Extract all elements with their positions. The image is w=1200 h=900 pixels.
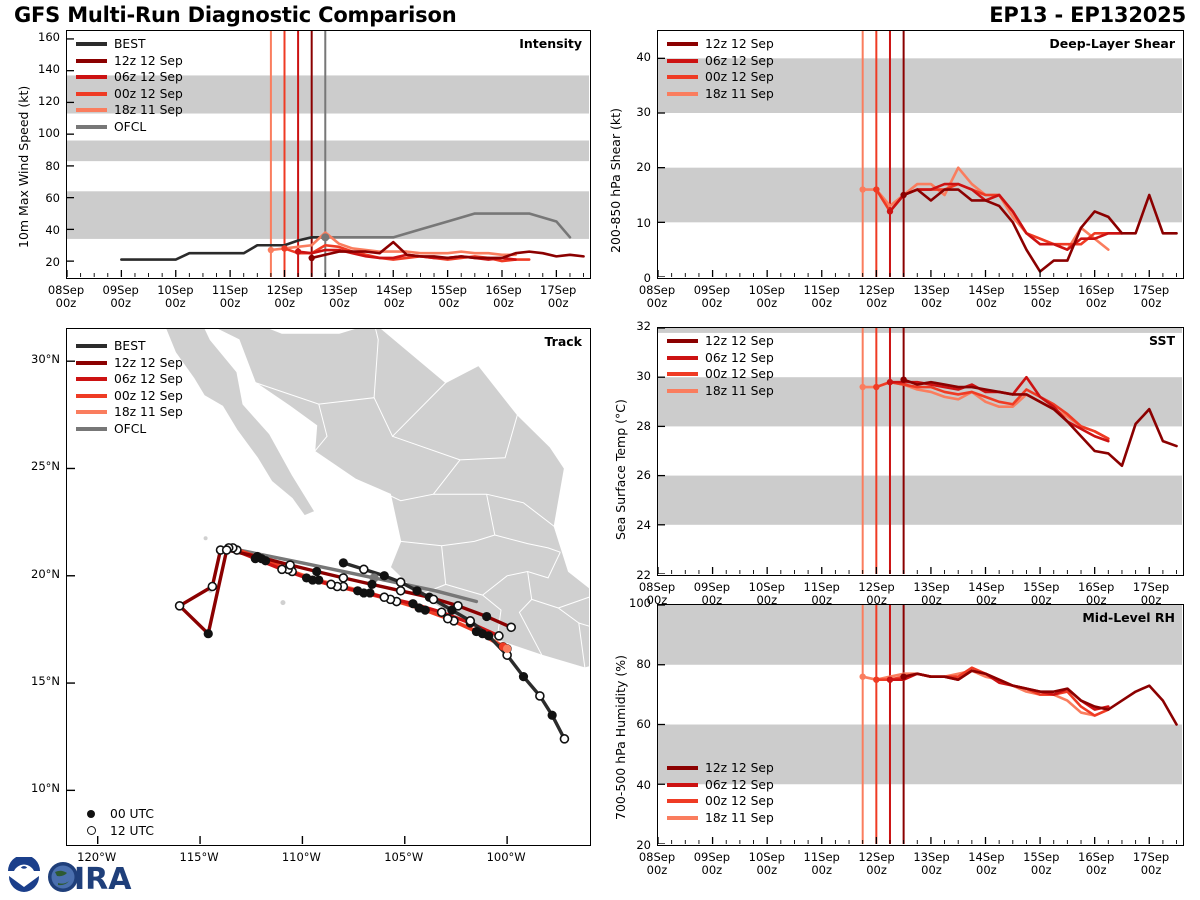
legend-swatch — [667, 389, 698, 393]
legend-item-best: BEST — [76, 36, 183, 53]
x-tick-label: 11Sep 00z — [792, 284, 852, 310]
legend-item-00z-12-sep: 00z 12 Sep — [667, 793, 774, 810]
legend-item-00z-12-sep: 00z 12 Sep — [667, 366, 774, 383]
legend-swatch — [667, 92, 698, 96]
marker-legend-label: 00 UTC — [110, 807, 154, 821]
noaa-logo-icon — [4, 857, 44, 897]
legend-swatch — [667, 339, 698, 343]
legend-swatch — [76, 92, 107, 96]
cira-logo-icon: IRA — [44, 856, 162, 898]
legend-swatch — [76, 410, 107, 414]
legend-label: 00z 12 Sep — [705, 70, 774, 84]
x-tick-label: 09Sep 00z — [91, 284, 151, 310]
series-start-marker — [268, 247, 274, 253]
x-tick-label: 17Sep 00z — [1121, 284, 1181, 310]
legend-item-18z-11-sep: 18z 11 Sep — [667, 383, 774, 400]
legend-item-12z-12-sep: 12z 12 Sep — [667, 760, 774, 777]
legend-label: 06z 12 Sep — [705, 351, 774, 365]
filled-circle-icon — [80, 807, 102, 821]
y-tick-label: 30°N — [14, 352, 60, 366]
track-marker-00utc — [447, 606, 456, 615]
track-marker-00utc — [412, 586, 421, 595]
y-tick-label: 100 — [611, 596, 651, 610]
legend-swatch — [76, 344, 107, 348]
y-tick-label: 40 — [611, 50, 651, 64]
track-marker-00utc — [519, 672, 528, 681]
series-start-marker — [873, 186, 879, 192]
track-marker-00utc — [408, 599, 417, 608]
island — [280, 600, 285, 605]
y-tick-label: 15°N — [14, 674, 60, 688]
x-tick-label: 11Sep 00z — [200, 284, 260, 310]
track-marker-12utc — [438, 608, 446, 616]
x-tick-label: 100°W — [471, 851, 541, 864]
legend-item-12z-12-sep: 12z 12 Sep — [76, 355, 183, 372]
legend-label: 18z 11 Sep — [114, 405, 183, 419]
series-start-marker — [859, 186, 865, 192]
x-tick-label: 09Sep 00z — [682, 851, 742, 877]
legend-swatch — [667, 766, 698, 770]
legend-item-18z-11-sep: 18z 11 Sep — [76, 404, 183, 421]
y-tick-label: 80 — [611, 657, 651, 671]
legend-item-ofcl: OFCL — [76, 119, 183, 136]
open-circle-icon — [80, 824, 102, 838]
series-start-marker — [887, 676, 893, 682]
x-tick-label: 115°W — [164, 851, 234, 864]
x-tick-label: 14Sep 00z — [956, 284, 1016, 310]
x-tick-label: 16Sep 00z — [1066, 851, 1126, 877]
rh-ylabel: 700-500 hPa Humidity (%) — [613, 655, 628, 820]
legend-label: 00z 12 Sep — [705, 367, 774, 381]
legend-label: 12z 12 Sep — [705, 334, 774, 348]
legend-swatch — [667, 799, 698, 803]
track-marker-12utc — [339, 574, 347, 582]
shaded-band — [67, 141, 589, 162]
legend-item-00z-12-sep: 00z 12 Sep — [667, 69, 774, 86]
track-marker-00utc — [472, 627, 481, 636]
x-tick-label: 13Sep 00z — [901, 284, 961, 310]
legend-item-ofcl: OFCL — [76, 421, 183, 438]
series-line-12z-12-sep — [312, 242, 584, 258]
series-start-marker — [281, 245, 287, 251]
y-tick-label: 80 — [20, 159, 60, 173]
series-start-marker — [295, 248, 301, 254]
legend-item-06z-12-sep: 06z 12 Sep — [667, 777, 774, 794]
series-start-marker — [900, 674, 906, 680]
island — [204, 536, 208, 540]
legend-item-06z-12-sep: 06z 12 Sep — [76, 371, 183, 388]
track-marker-12utc — [327, 580, 335, 588]
legend-label: 00z 12 Sep — [114, 389, 183, 403]
series-line-06z-12-sep — [890, 671, 1108, 710]
intensity-panel-title: Intensity — [519, 36, 582, 51]
track-marker-12utc — [536, 692, 544, 700]
marker-legend-label: 12 UTC — [110, 824, 154, 838]
legend-item-18z-11-sep: 18z 11 Sep — [76, 102, 183, 119]
track-marker-12utc — [360, 565, 368, 573]
series-start-marker — [900, 192, 906, 198]
legend-label: 06z 12 Sep — [114, 70, 183, 84]
shear-ylabel: 200-850 hPa Shear (kt) — [608, 108, 623, 253]
y-tick-label: 60 — [20, 191, 60, 205]
track-marker-12utc — [466, 617, 474, 625]
rh-legend: 12z 12 Sep06z 12 Sep00z 12 Sep18z 11 Sep — [667, 760, 774, 826]
legend-label: 06z 12 Sep — [705, 778, 774, 792]
legend-swatch — [76, 59, 107, 63]
y-tick-label: 28 — [611, 419, 651, 433]
track-marker-00utc — [253, 552, 262, 561]
page-title: GFS Multi-Run Diagnostic Comparison — [14, 3, 456, 27]
legend-swatch — [76, 394, 107, 398]
x-tick-label: 15Sep 00z — [419, 284, 479, 310]
sst-legend: 12z 12 Sep06z 12 Sep00z 12 Sep18z 11 Sep — [667, 333, 774, 399]
track-marker-12utc — [380, 593, 388, 601]
y-tick-label: 160 — [20, 30, 60, 44]
legend-label: 18z 11 Sep — [705, 384, 774, 398]
series-start-marker — [859, 674, 865, 680]
track-marker-12utc — [495, 632, 503, 640]
x-tick-label: 105°W — [369, 851, 439, 864]
track-marker-00utc — [302, 573, 311, 582]
track-marker-00utc — [367, 580, 376, 589]
legend-item-18z-11-sep: 18z 11 Sep — [667, 86, 774, 103]
legend-label: 18z 11 Sep — [114, 103, 183, 117]
legend-label: 00z 12 Sep — [705, 794, 774, 808]
sst-panel-title: SST — [1149, 333, 1175, 348]
x-tick-label: 110°W — [266, 851, 336, 864]
legend-item-12z-12-sep: 12z 12 Sep — [667, 36, 774, 53]
track-marker-12utc — [397, 587, 405, 595]
track-marker-12utc — [560, 735, 568, 743]
x-tick-label: 08Sep 00z — [627, 284, 687, 310]
x-tick-label: 12Sep 00z — [847, 851, 907, 877]
series-start-marker — [900, 376, 906, 382]
legend-label: 06z 12 Sep — [114, 372, 183, 386]
y-tick-label: 26 — [611, 468, 651, 482]
x-tick-label: 15Sep 00z — [1011, 284, 1071, 310]
y-tick-label: 24 — [611, 518, 651, 532]
x-tick-label: 09Sep 00z — [682, 284, 742, 310]
legend-item-06z-12-sep: 06z 12 Sep — [76, 69, 183, 86]
y-tick-label: 60 — [611, 717, 651, 731]
x-tick-label: 08Sep 00z — [36, 284, 96, 310]
legend-swatch — [667, 75, 698, 79]
legend-label: OFCL — [114, 120, 146, 134]
legend-swatch — [667, 59, 698, 63]
track-marker-00utc — [353, 586, 362, 595]
y-tick-label: 10°N — [14, 781, 60, 795]
series-start-marker — [859, 384, 865, 390]
legend-swatch — [667, 783, 698, 787]
track-marker-legend: 00 UTC12 UTC — [80, 805, 154, 839]
legend-swatch — [667, 42, 698, 46]
series-start-marker — [887, 208, 893, 214]
legend-item-06z-12-sep: 06z 12 Sep — [667, 53, 774, 70]
x-tick-label: 10Sep 00z — [145, 284, 205, 310]
y-tick-label: 40 — [20, 223, 60, 237]
y-tick-label: 32 — [611, 319, 651, 333]
track-endpoint-marker — [503, 645, 511, 653]
y-tick-label: 25°N — [14, 459, 60, 473]
x-tick-label: 15Sep 00z — [1011, 851, 1071, 877]
series-start-marker — [887, 379, 893, 385]
x-tick-label: 17Sep 00z — [1121, 851, 1181, 877]
legend-swatch — [667, 816, 698, 820]
x-tick-label: 14Sep 00z — [364, 284, 424, 310]
intensity-legend: BEST12z 12 Sep06z 12 Sep00z 12 Sep18z 11… — [76, 36, 183, 135]
track-marker-12utc — [397, 578, 405, 586]
y-tick-label: 140 — [20, 62, 60, 76]
series-start-marker — [873, 384, 879, 390]
legend-swatch — [667, 356, 698, 360]
svg-text:IRA: IRA — [74, 862, 132, 897]
legend-label: 12z 12 Sep — [114, 54, 183, 68]
marker-legend-12-utc: 12 UTC — [80, 822, 154, 839]
track-marker-12utc — [429, 595, 437, 603]
x-tick-label: 10Sep 00z — [737, 284, 797, 310]
y-tick-label: 30 — [611, 369, 651, 383]
legend-swatch — [76, 361, 107, 365]
legend-swatch — [76, 377, 107, 381]
track-marker-12utc — [507, 623, 515, 631]
legend-swatch — [76, 427, 107, 431]
legend-label: 00z 12 Sep — [114, 87, 183, 101]
y-tick-label: 20 — [611, 160, 651, 174]
track-marker-12utc — [444, 615, 452, 623]
track-marker-00utc — [482, 612, 491, 621]
legend-label: 12z 12 Sep — [114, 356, 183, 370]
track-marker-00utc — [339, 558, 348, 567]
y-tick-label: 100 — [20, 126, 60, 140]
track-legend: BEST12z 12 Sep06z 12 Sep00z 12 Sep18z 11… — [76, 338, 183, 437]
series-line-12z-12-sep — [904, 671, 1177, 725]
track-marker-12utc — [176, 602, 184, 610]
shear-legend: 12z 12 Sep06z 12 Sep00z 12 Sep18z 11 Sep — [667, 36, 774, 102]
legend-label: 12z 12 Sep — [705, 37, 774, 51]
shear-panel-title: Deep-Layer Shear — [1049, 36, 1175, 51]
track-panel-title: Track — [545, 334, 582, 349]
legend-swatch — [76, 42, 107, 46]
agency-logos: IRA — [4, 856, 162, 898]
rh-panel-title: Mid-Level RH — [1082, 610, 1175, 625]
legend-item-best: BEST — [76, 338, 183, 355]
legend-label: 06z 12 Sep — [705, 54, 774, 68]
track-marker-00utc — [548, 711, 557, 720]
series-start-marker — [873, 676, 879, 682]
track-marker-00utc — [380, 571, 389, 580]
ofcl-start-marker — [321, 233, 329, 241]
track-marker-00utc — [204, 629, 213, 638]
x-tick-label: 11Sep 00z — [792, 851, 852, 877]
storm-id-label: EP13 - EP132025 — [989, 3, 1186, 27]
legend-label: BEST — [114, 339, 146, 353]
legend-label: OFCL — [114, 422, 146, 436]
x-tick-label: 13Sep 00z — [309, 284, 369, 310]
shaded-band — [658, 476, 1182, 525]
legend-label: 12z 12 Sep — [705, 761, 774, 775]
legend-swatch — [667, 372, 698, 376]
x-tick-label: 16Sep 00z — [1066, 284, 1126, 310]
x-tick-label: 16Sep 00z — [474, 284, 534, 310]
legend-label: 18z 11 Sep — [705, 87, 774, 101]
y-tick-label: 30 — [611, 105, 651, 119]
legend-item-12z-12-sep: 12z 12 Sep — [76, 53, 183, 70]
legend-item-12z-12-sep: 12z 12 Sep — [667, 333, 774, 350]
y-tick-label: 20 — [20, 255, 60, 269]
track-marker-12utc — [286, 561, 294, 569]
x-tick-label: 17Sep 00z — [528, 284, 588, 310]
legend-item-00z-12-sep: 00z 12 Sep — [76, 86, 183, 103]
track-marker-12utc — [278, 565, 286, 573]
y-tick-label: 20°N — [14, 567, 60, 581]
y-tick-label: 120 — [20, 94, 60, 108]
legend-swatch — [76, 125, 107, 129]
x-tick-label: 10Sep 00z — [737, 851, 797, 877]
marker-legend-00-utc: 00 UTC — [80, 805, 154, 822]
y-tick-label: 10 — [611, 216, 651, 230]
legend-item-06z-12-sep: 06z 12 Sep — [667, 350, 774, 367]
x-tick-label: 14Sep 00z — [956, 851, 1016, 877]
x-tick-label: 13Sep 00z — [901, 851, 961, 877]
track-marker-00utc — [312, 567, 321, 576]
x-tick-label: 12Sep 00z — [847, 284, 907, 310]
legend-item-00z-12-sep: 00z 12 Sep — [76, 388, 183, 405]
track-marker-12utc — [208, 583, 216, 591]
track-marker-00utc — [484, 631, 493, 640]
x-tick-label: 12Sep 00z — [255, 284, 315, 310]
x-tick-label: 08Sep 00z — [627, 851, 687, 877]
shaded-band — [67, 191, 589, 239]
legend-swatch — [76, 108, 107, 112]
track-marker-12utc — [223, 546, 231, 554]
legend-label: 18z 11 Sep — [705, 811, 774, 825]
series-start-marker — [308, 255, 314, 261]
legend-item-18z-11-sep: 18z 11 Sep — [667, 810, 774, 827]
legend-label: BEST — [114, 37, 146, 51]
legend-swatch — [76, 75, 107, 79]
y-tick-label: 40 — [611, 778, 651, 792]
